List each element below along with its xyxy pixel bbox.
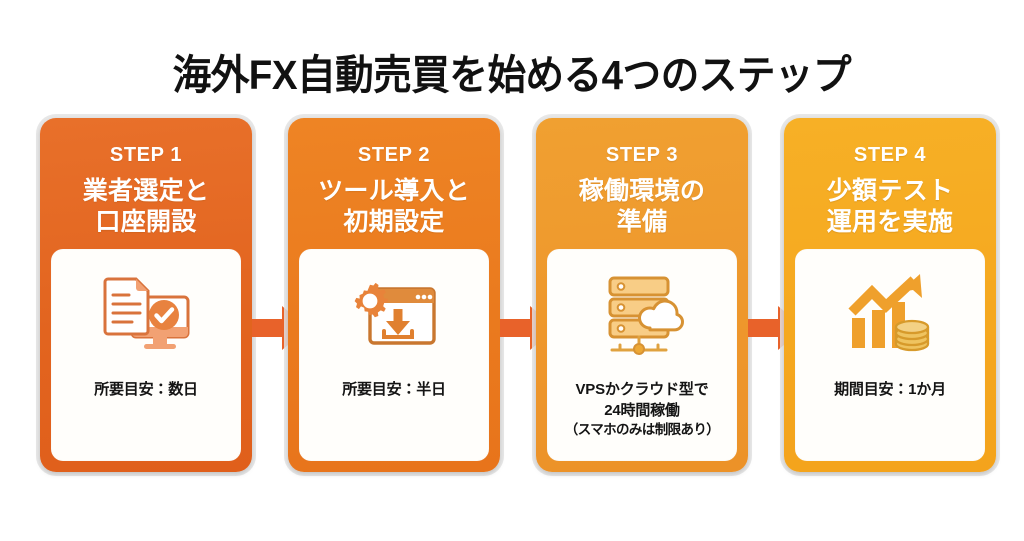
step-heading-2: ツール導入と 初期設定	[318, 176, 470, 237]
step-note-line2: 24時間稼働	[565, 401, 719, 422]
step-heading-line2: 運用を実施	[827, 207, 954, 238]
step-heading-line2: 初期設定	[318, 207, 470, 238]
server-cloud-icon	[547, 260, 737, 368]
step-note-2: 所要目安：半日	[334, 380, 454, 401]
step-note-1: 所要目安：数日	[86, 380, 206, 401]
step-heading-line1: 業者選定と	[83, 176, 210, 207]
step-heading-3: 稼働環境の 準備	[579, 176, 706, 237]
step-card-2[interactable]: STEP 2 ツール導入と 初期設定	[288, 118, 500, 472]
step-label-4: STEP 4	[854, 145, 926, 165]
step-panel-1: 所要目安：数日	[51, 249, 241, 461]
step-note-line1: 所要目安：数日	[94, 380, 198, 401]
step-note-line1: 期間目安：1か月	[834, 380, 946, 401]
step-note-line1: 所要目安：半日	[342, 380, 446, 401]
step-heading-line2: 口座開設	[83, 207, 210, 238]
document-monitor-check-icon	[51, 260, 241, 368]
step-heading-line1: ツール導入と	[318, 176, 470, 207]
step-heading-line1: 少額テスト	[827, 176, 954, 207]
step-note-line1: VPSかクラウド型で	[565, 380, 719, 401]
step-note-line3: （スマホのみは制限あり）	[565, 421, 719, 440]
step-heading-line2: 準備	[579, 207, 706, 238]
step-label-1: STEP 1	[110, 145, 182, 165]
growth-chart-coins-icon	[795, 260, 985, 368]
infographic-canvas: 海外FX自動売買を始める4つのステップ STEP 1 業者選定と 口座開設	[0, 0, 1024, 541]
step-panel-4: 期間目安：1か月	[795, 249, 985, 461]
gear-download-window-icon	[299, 260, 489, 368]
step-heading-1: 業者選定と 口座開設	[83, 176, 210, 237]
step-panel-3: VPSかクラウド型で 24時間稼働 （スマホのみは制限あり）	[547, 249, 737, 461]
step-label-3: STEP 3	[606, 145, 678, 165]
step-note-3: VPSかクラウド型で 24時間稼働 （スマホのみは制限あり）	[557, 380, 727, 440]
step-label-2: STEP 2	[358, 145, 430, 165]
step-note-4: 期間目安：1か月	[826, 380, 954, 401]
step-card-4[interactable]: STEP 4 少額テスト 運用を実施	[784, 118, 996, 472]
page-title-container: 海外FX自動売買を始める4つのステップ	[0, 26, 1024, 126]
step-heading-line1: 稼働環境の	[579, 176, 706, 207]
step-card-1[interactable]: STEP 1 業者選定と 口座開設	[40, 118, 252, 472]
page-title: 海外FX自動売買を始める4つのステップ	[173, 53, 851, 98]
step-card-3[interactable]: STEP 3 稼働環境の 準備	[536, 118, 748, 472]
step-heading-4: 少額テスト 運用を実施	[827, 176, 954, 237]
steps-row: STEP 1 業者選定と 口座開設	[38, 118, 990, 474]
step-panel-2: 所要目安：半日	[299, 249, 489, 461]
